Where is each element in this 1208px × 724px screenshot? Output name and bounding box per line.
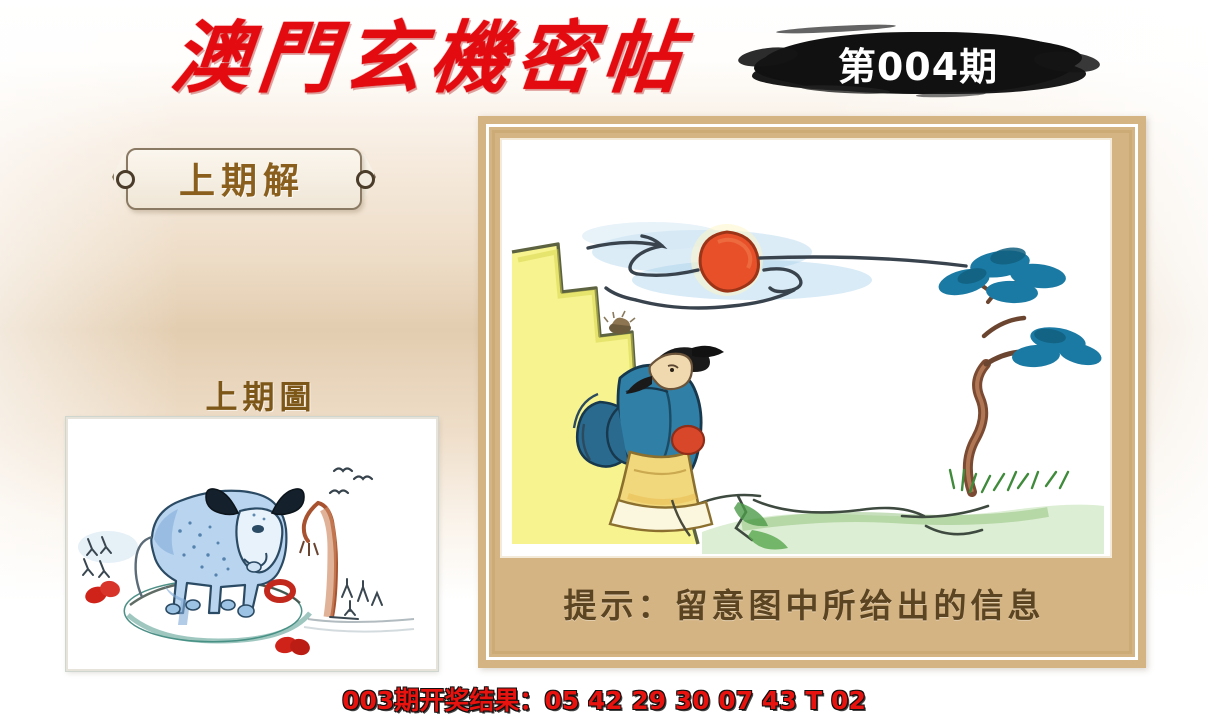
lottery-result-line: 003期开奖结果：05 42 29 30 07 43 T 02 xyxy=(0,681,1208,717)
prev-image-frame[interactable] xyxy=(66,417,438,671)
previous-issue-ox-illustration xyxy=(68,419,436,669)
page-title: 澳門玄機密帖 xyxy=(168,20,692,98)
hint-text: 提示：留意图中所给出的信息 xyxy=(500,568,1108,638)
plaque-label: 上期解 xyxy=(108,146,376,210)
riddle-image-frame[interactable] xyxy=(500,138,1112,558)
prev-image-label: 上期圖 xyxy=(176,375,346,419)
riddle-illustration xyxy=(502,140,1110,556)
main-riddle-panel: 提示：留意图中所给出的信息 xyxy=(478,116,1146,668)
issue-badge-label: 第004期 xyxy=(746,22,1090,104)
issue-badge: 第004期 xyxy=(746,22,1090,104)
prev-answer-plaque: 上期解 xyxy=(108,146,376,212)
